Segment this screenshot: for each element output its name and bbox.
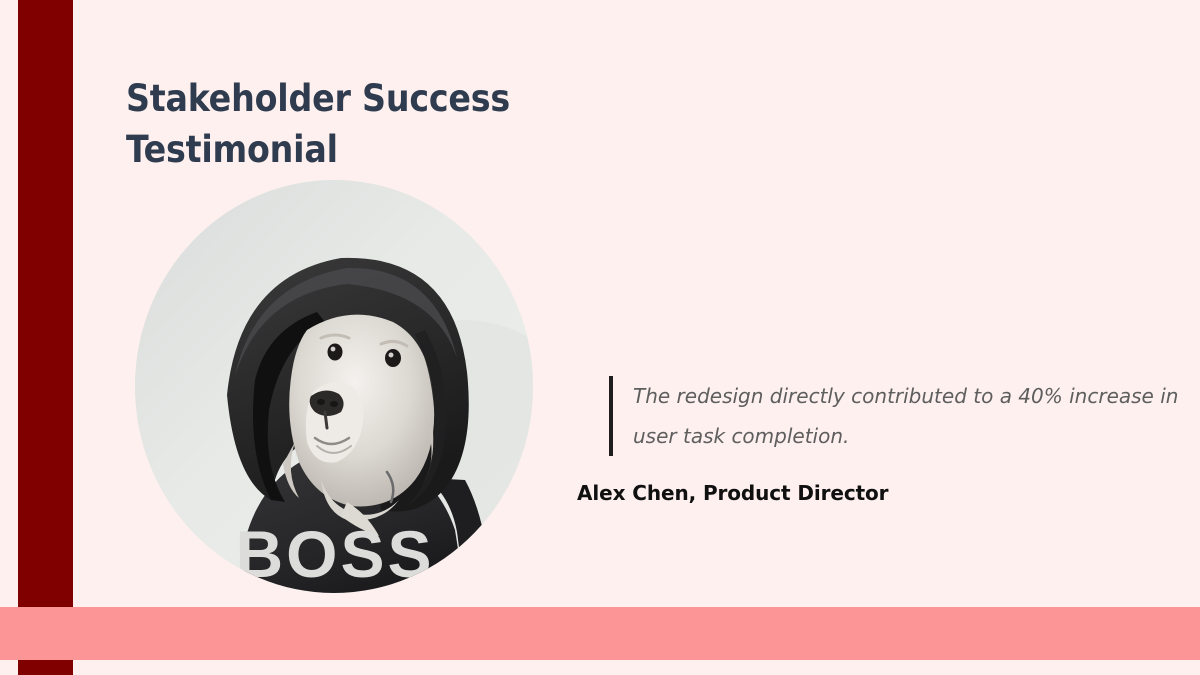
bottom-accent-band bbox=[0, 607, 1200, 660]
svg-text:BOSS: BOSS bbox=[235, 517, 434, 591]
page-title-line-1: Stakeholder Success bbox=[126, 73, 556, 124]
slide-canvas: Stakeholder Success Testimonial bbox=[0, 0, 1200, 675]
left-accent-bar bbox=[18, 0, 73, 675]
testimonial-quote-text: The redesign directly contributed to a 4… bbox=[633, 376, 1200, 456]
testimonial-attribution: Alex Chen, Product Director bbox=[577, 481, 888, 505]
page-title: Stakeholder Success Testimonial bbox=[126, 73, 556, 175]
page-title-line-2: Testimonial bbox=[126, 124, 556, 175]
testimonial-quote-block: The redesign directly contributed to a 4… bbox=[609, 376, 1200, 456]
portrait-avatar: BOSS bbox=[135, 180, 533, 593]
dog-portrait-image: BOSS bbox=[135, 180, 533, 593]
